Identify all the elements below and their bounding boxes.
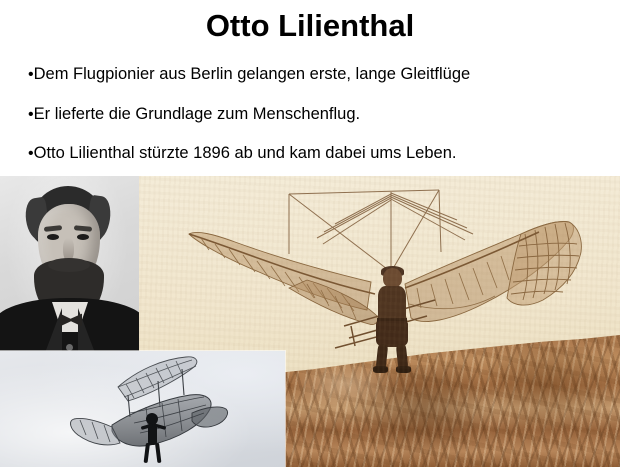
inset-glider-illustration: [0, 351, 285, 467]
pilot-foot: [373, 366, 388, 373]
portrait-button: [66, 344, 73, 351]
pilot-foot: [396, 366, 411, 373]
page-title: Otto Lilienthal: [0, 8, 620, 44]
bullet-text: Otto Lilienthal stürzte 1896 ab und kam …: [34, 144, 457, 162]
pilot-leg: [376, 344, 388, 369]
bullet-text: Dem Flugpionier aus Berlin gelangen erst…: [34, 65, 471, 83]
portrait-eye: [47, 234, 59, 240]
pilot-leg: [396, 344, 408, 369]
bullet-item: •Er lieferte die Grundlage zum Menschenf…: [28, 104, 360, 125]
presentation-slide: Otto Lilienthal •Dem Flugpionier aus Ber…: [0, 0, 620, 467]
slide-image-area: [0, 176, 620, 467]
slide-text-area: Otto Lilienthal •Dem Flugpionier aus Ber…: [0, 0, 620, 176]
inset-flight-photo: [0, 351, 285, 467]
portrait-mustache: [48, 258, 90, 272]
portrait-photo: [0, 176, 139, 356]
portrait-eye: [77, 234, 89, 240]
pilot-head: [383, 268, 402, 288]
bullet-item: •Dem Flugpionier aus Berlin gelangen ers…: [28, 64, 470, 85]
bullet-text: Er lieferte die Grundlage zum Menschenfl…: [34, 105, 361, 123]
pilot-figure: [368, 268, 416, 372]
bullet-item: •Otto Lilienthal stürzte 1896 ab und kam…: [28, 143, 456, 164]
